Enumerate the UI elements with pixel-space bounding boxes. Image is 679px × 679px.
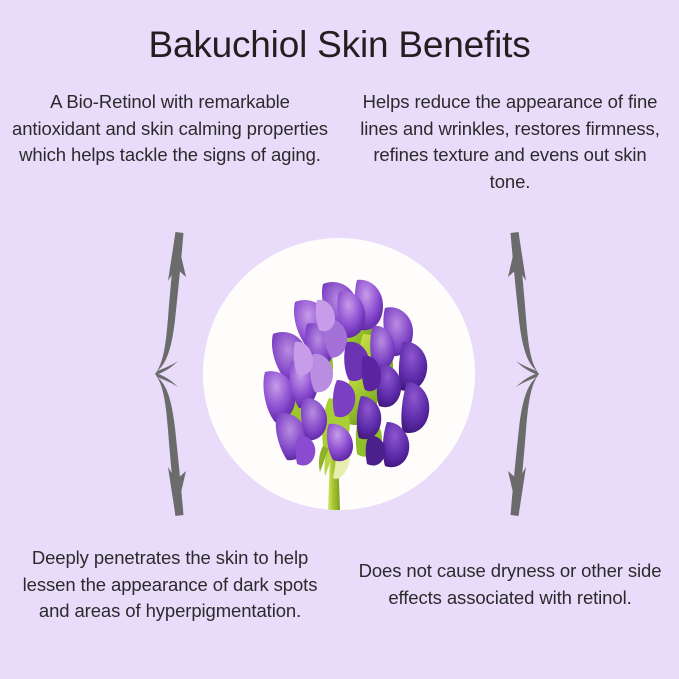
arrow-bottom-left-icon (155, 373, 186, 516)
arrow-top-left-icon (155, 232, 186, 375)
center-circle (203, 238, 475, 510)
arrow-bottom-right-icon (508, 373, 539, 516)
benefit-text-bottom-right: Does not cause dryness or other side eff… (352, 558, 668, 611)
benefit-text-bottom-left: Deeply penetrates the skin to help lesse… (12, 545, 328, 625)
infographic-canvas: Bakuchiol Skin Benefits A Bio-Retinol wi… (0, 0, 679, 679)
benefit-text-top-left: A Bio-Retinol with remarkable antioxidan… (12, 89, 328, 169)
benefit-text-top-right: Helps reduce the appearance of fine line… (352, 89, 668, 195)
arrow-top-right-icon (508, 232, 539, 375)
babchi-flower-image (203, 238, 475, 510)
page-title: Bakuchiol Skin Benefits (0, 22, 679, 68)
